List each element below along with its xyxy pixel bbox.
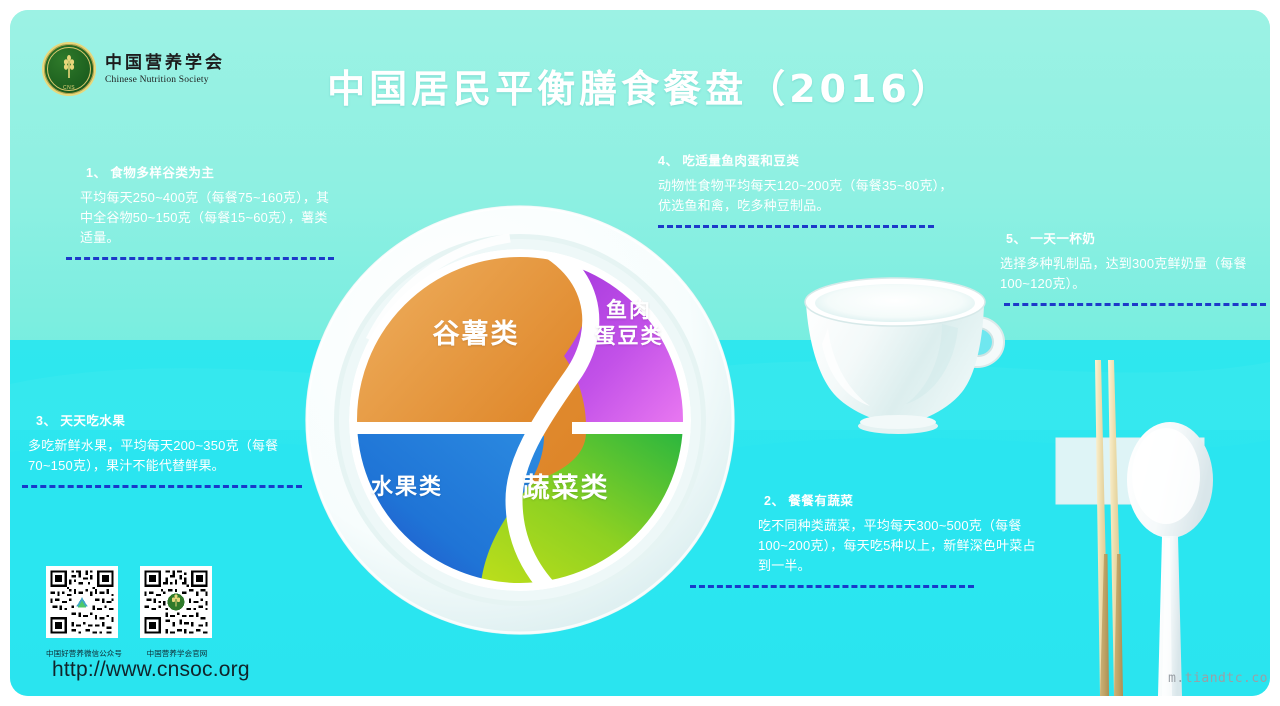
callout-body: 平均每天250~400克（每餐75~160克），其中全谷物50~150克（每餐1… [80,188,332,248]
website-url[interactable]: http://www.cnsoc.org [52,658,250,682]
watermark-text: m.tiandtc.co [1168,671,1268,686]
utensils-group [1050,358,1270,696]
callout-heading: 3、 天天吃水果 [36,410,306,429]
page-title: 中国居民平衡膳食餐盘（2016） [10,58,1270,113]
utensils-graphic [1050,358,1270,696]
callout-heading: 5、 一天一杯奶 [1006,228,1268,247]
connector-dashed-line [22,485,302,488]
callout-body: 选择多种乳制品，达到300克鲜奶量（每餐100~120克）。 [1000,254,1268,294]
callout-fruit: 3、 天天吃水果 多吃新鲜水果，平均每天200~350克（每餐70~150克），… [28,410,306,488]
callout-milk: 5、 一天一杯奶 选择多种乳制品，达到300克鲜奶量（每餐100~120克）。 [1000,228,1268,306]
poster-canvas: CNS 中国营养学会 Chinese Nutrition Society 中国居… [10,10,1270,696]
balanced-diet-plate: 谷薯类 鱼肉 蛋豆类 水果类 蔬菜类 [300,200,740,640]
connector-dashed-line [66,257,334,260]
qr-code-image[interactable] [140,566,212,638]
milk-cup: 奶 [792,272,1022,457]
qr-code-image[interactable] [46,566,118,638]
callout-heading: 4、 吃适量鱼肉蛋和豆类 [658,150,958,169]
qr-code-website[interactable]: 中国营养学会官网 [140,566,212,659]
callout-heading: 1、 食物多样谷类为主 [86,162,332,181]
connector-dashed-line [1004,303,1266,306]
qr-code-block: 中国好营养微信公众号 [46,566,212,659]
callout-grain: 1、 食物多样谷类为主 平均每天250~400克（每餐75~160克），其中全谷… [80,162,332,260]
cup-graphic [792,272,1022,457]
callout-body: 吃不同种类蔬菜，平均每天300~500克（每餐100~200克），每天吃5种以上… [758,516,1046,576]
poster-root: CNS 中国营养学会 Chinese Nutrition Society 中国居… [0,0,1280,706]
callout-heading: 2、 餐餐有蔬菜 [764,490,1046,509]
callout-vegetable: 2、 餐餐有蔬菜 吃不同种类蔬菜，平均每天300~500克（每餐100~200克… [758,490,1046,588]
plate-graphic [300,200,740,640]
qr-code-wechat[interactable]: 中国好营养微信公众号 [46,566,118,659]
callout-body: 多吃新鲜水果，平均每天200~350克（每餐70~150克），果汁不能代替鲜果。 [28,436,306,476]
